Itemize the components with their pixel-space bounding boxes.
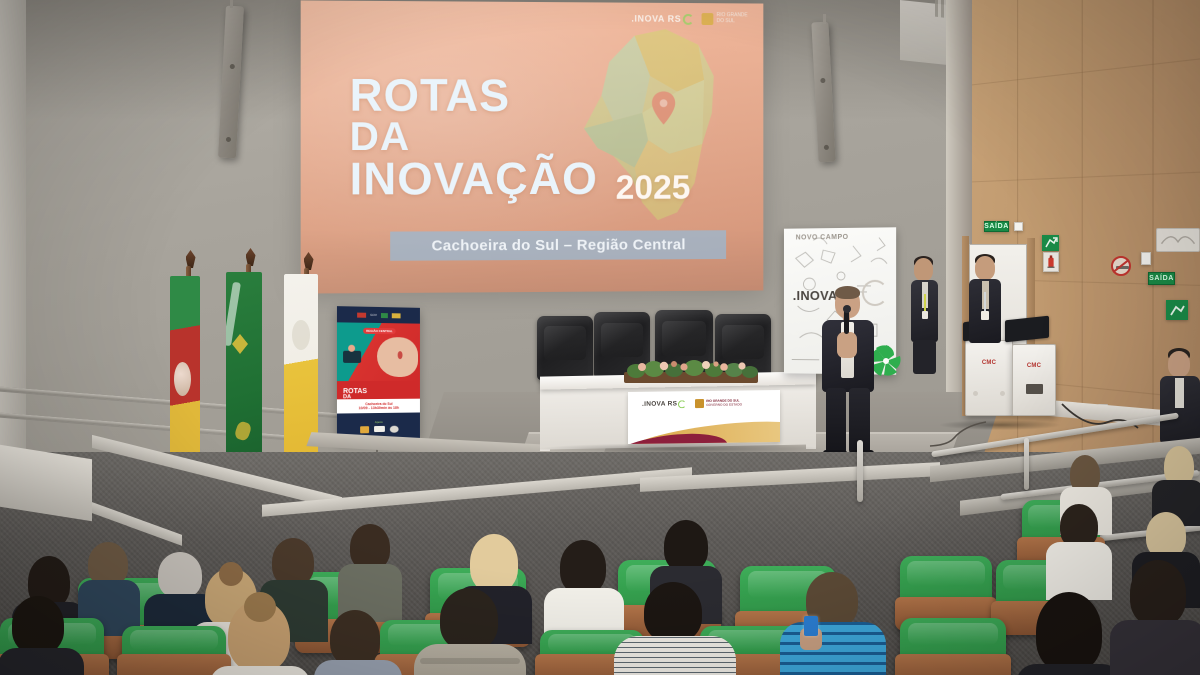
flag-brazil-fold-highlight (234, 420, 253, 441)
inova-rs-logo-icon: .INOVA RS (631, 13, 694, 24)
speaker-stem-left (230, 0, 233, 8)
speaker-stem-right (823, 14, 826, 24)
rollup-date-block: Cachoeira do Sul 10/09 - 13h30min às 18h (337, 399, 420, 414)
case-label-2: CMC (1027, 363, 1041, 369)
coat-of-arms-icon (695, 399, 704, 408)
handrail-post-1 (857, 440, 863, 502)
slide-title-line1: ROTAS (350, 73, 598, 118)
slide-title-line3: INOVAÇÃO (350, 157, 598, 202)
rollup-banner: GOV REGIÃO CENTRAL ROTAS DA INOVAÇÃO Cac… (337, 306, 420, 440)
slide-year: 2025 (616, 169, 691, 208)
green-fan-logo-icon (869, 344, 903, 378)
slide-title: ROTAS DA INOVAÇÃO (350, 73, 598, 201)
inova-swirl-icon (862, 280, 888, 306)
fire-extinguisher-sign (1043, 252, 1059, 272)
table-banner-logo-primary: .INOVA RS (642, 400, 677, 407)
stage-chair-1 (537, 316, 593, 380)
equipment-case-2: CMC (1012, 344, 1056, 416)
rollup-footer-label: Apoio: (375, 419, 383, 423)
flower-arrangement (620, 358, 762, 384)
emergency-route-sign (1042, 235, 1059, 251)
person-2-lanyard-icon (984, 292, 986, 312)
person-2-badge-icon (981, 311, 989, 320)
flag-cloth-brazil (226, 272, 262, 482)
flag-cloth-rs (170, 276, 200, 480)
person-1-legs (913, 340, 936, 374)
coat-of-arms-icon (702, 13, 714, 25)
inova-rs-logo-icon: .INOVA RS (642, 400, 686, 409)
rollup-datetime: 10/09 - 13h30min às 18h (359, 406, 399, 410)
slide-logo-primary-text: .INOVA RS (631, 14, 681, 24)
rollup-laptop-icon (343, 351, 361, 363)
emergency-route-sign-right (1166, 300, 1188, 320)
person-3-shirt (1175, 378, 1184, 408)
seat-row-b-1[interactable] (900, 556, 992, 618)
sponsor-logo-2-icon (374, 426, 385, 432)
projection-screen: .INOVA RS RIO GRANDE DO SUL ROTAS DA INO… (301, 0, 764, 293)
rollup-artwork: REGIÃO CENTRAL (337, 322, 420, 381)
gov-rs-logo-icon: RIO GRANDE DO SUL GOVERNO DO ESTADO (695, 398, 742, 408)
emergency-light-right-icon (1141, 252, 1151, 265)
rollup-person-icon (348, 345, 355, 352)
rollup-logo-strip: GOV (337, 306, 420, 324)
person-1-lanyard-icon (924, 294, 926, 312)
speaker-hands (837, 332, 857, 358)
left-wall-edge (0, 0, 26, 470)
slide-subtitle: Cachoeira do Sul – Região Central (432, 236, 686, 254)
table-banner-gov-line2: GOVERNO DO ESTADO (706, 403, 742, 407)
checkered-shirt (614, 636, 736, 675)
inova-swirl-icon (683, 13, 694, 24)
flag-brazil-diamond-icon (232, 334, 248, 354)
speaker-hair (835, 286, 860, 299)
smartphone-icon[interactable] (804, 616, 818, 636)
exit-sign-right: SAÍDA (1148, 272, 1175, 285)
hair-bun-detail (219, 562, 243, 586)
rollup-map-pin-icon (398, 351, 403, 359)
table-front-banner: .INOVA RS RIO GRANDE DO SUL GOVERNO DO E… (628, 390, 780, 444)
slide-title-line2: DA (350, 118, 598, 158)
emergency-light-icon (1014, 222, 1023, 231)
slide-logo-row: .INOVA RS RIO GRANDE DO SUL (631, 13, 747, 26)
inova-swirl-icon (678, 400, 686, 408)
laptop-2[interactable] (1005, 316, 1049, 343)
equipment-case-1: CMC (965, 340, 1013, 416)
exit-sign-left: SAÍDA (984, 221, 1009, 232)
table-banner-logos: .INOVA RS RIO GRANDE DO SUL GOVERNO DO E… (628, 390, 780, 409)
speaker-leg-left (826, 388, 846, 454)
handrail-post-2 (1024, 438, 1029, 490)
flag-rs-emblem-icon (174, 362, 191, 396)
gov-logo-line2: DO SUL (717, 19, 748, 25)
sponsor-logo-1-icon (360, 426, 369, 433)
wall-mounted-light-fixture (1156, 228, 1200, 252)
plaid-shirt (780, 622, 886, 675)
seat-row-d-2[interactable] (122, 626, 226, 675)
sponsor-logo-3-icon (389, 425, 398, 432)
slide-subtitle-bar: Cachoeira do Sul – Região Central (390, 230, 726, 261)
person-1-badge-icon (922, 311, 928, 319)
microphone-head-icon (843, 305, 851, 313)
gov-rs-logo-icon: RIO GRANDE DO SUL (702, 13, 748, 25)
case-label-1: CMC (982, 360, 996, 366)
seat-row-d-6[interactable] (900, 618, 1006, 675)
no-smoking-sign (1111, 256, 1131, 276)
flag-municipal-emblem-icon (292, 320, 310, 350)
auditorium-photo: .INOVA RS RIO GRANDE DO SUL ROTAS DA INO… (0, 0, 1200, 675)
rollup-region-tag: REGIÃO CENTRAL (363, 328, 396, 334)
